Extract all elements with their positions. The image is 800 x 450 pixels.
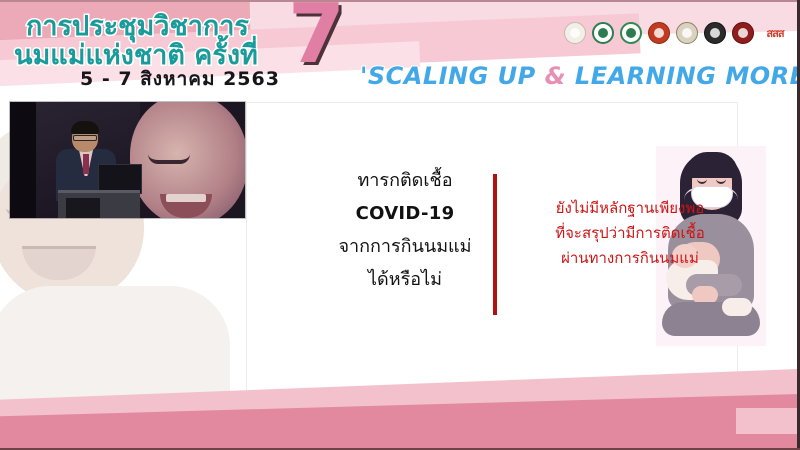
projected-baby-eye	[148, 154, 190, 164]
projected-baby-teeth	[166, 194, 206, 202]
question-line-3: จากการกินนมแม่	[320, 230, 490, 263]
mother-foot	[722, 298, 752, 316]
conference-date: 5 - 7 สิงหาคม 2563	[80, 64, 280, 94]
logo-royal-college-icon	[676, 22, 698, 44]
speaker-hair	[71, 121, 99, 134]
organizer-logos: สสส	[564, 22, 790, 44]
conference-tagline: 'SCALING UP & LEARNING MORE'	[360, 62, 800, 90]
question-text-block: ทารกติดเชื้อ COVID-19 จากการกินนมแม่ ได้…	[320, 164, 490, 296]
mother-hair-front	[686, 152, 738, 178]
speaker-glasses-icon	[73, 135, 97, 141]
logo-breastfeeding-foundation-icon	[564, 22, 586, 44]
speaker-tie	[83, 154, 89, 174]
tagline-ampersand: &	[545, 62, 566, 90]
answer-line-1: ยังไม่มีหลักฐานเพียงพอ	[500, 196, 760, 221]
answer-line-3: ผ่านทางการกินนมแม่	[500, 246, 760, 271]
answer-text-block: ยังไม่มีหลักฐานเพียงพอ ที่จะสรุปว่ามีการ…	[500, 196, 760, 271]
tagline-part-2: LEARNING MORE'	[566, 62, 800, 90]
footer-band-right-light	[736, 408, 800, 434]
speaker-video-inset[interactable]	[10, 102, 245, 218]
logo-maroon-seal-icon	[732, 22, 754, 44]
question-line-1: ทารกติดเชื้อ	[320, 164, 490, 197]
podium-front-panel	[66, 198, 100, 218]
logo-royal-emblem-red-icon	[648, 22, 670, 44]
tagline-part-1: 'SCALING UP	[360, 62, 545, 90]
stage-dark-column	[10, 102, 36, 218]
presentation-slide: 7 การประชุมวิชาการ นมแม่แห่งชาติ ครั้งที…	[0, 0, 800, 450]
question-line-2: COVID-19	[320, 197, 490, 230]
vertical-divider	[493, 174, 497, 315]
frame-border-top	[0, 0, 800, 2]
edition-number: 7	[288, 0, 345, 76]
logo-department-of-health-icon	[620, 22, 642, 44]
logo-black-seal-icon	[704, 22, 726, 44]
answer-line-2: ที่จะสรุปว่ามีการติดเชื้อ	[500, 221, 760, 246]
question-line-4: ได้หรือไม่	[320, 263, 490, 296]
logo-ministry-of-public-health-icon	[592, 22, 614, 44]
logo-thaihealth-sss-icon: สสส	[760, 22, 790, 44]
